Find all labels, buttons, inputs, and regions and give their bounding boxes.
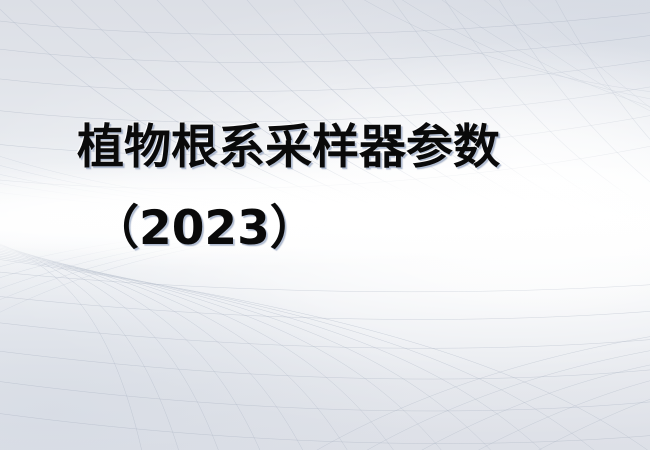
slide-title-primary: 植物根系采样器参数 [77,121,500,175]
slide-title-block: 植物根系采样器参数 （2023） [0,0,650,450]
presentation-slide: 植物根系采样器参数 （2023） [0,0,650,450]
slide-title-year: （2023） [92,202,317,256]
